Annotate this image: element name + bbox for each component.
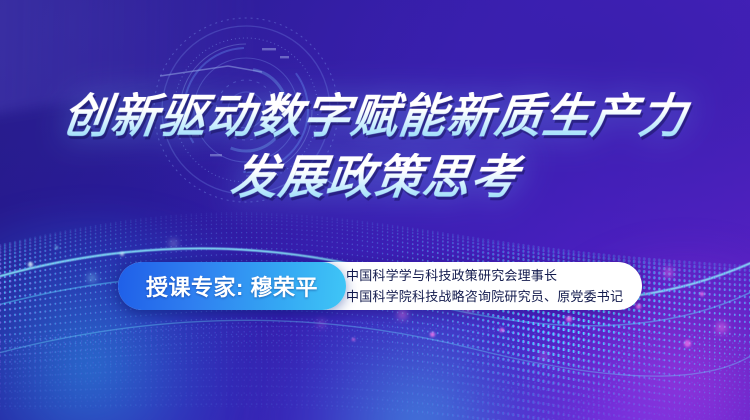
banner-title: 创新驱动数字赋能新质生产力 发展政策思考 [0, 92, 750, 202]
title-line-2: 发展政策思考 [0, 153, 750, 201]
title-line-1: 创新驱动数字赋能新质生产力 [0, 92, 750, 140]
credentials-text: 中国科学学与科技政策研究会理事长 中国科学院科技战略咨询院研究员、原党委书记 [346, 264, 642, 308]
speaker-name-label: 授课专家: 穆荣平 [146, 270, 318, 302]
violet-glow-decoration [430, 340, 750, 420]
cyan-glow-decoration [0, 215, 320, 420]
credential-line-1: 中国科学学与科技政策研究会理事长 [346, 265, 642, 286]
cyan-glow-decoration-2 [210, 300, 630, 420]
credential-line-2: 中国科学院科技战略咨询院研究员、原党委书记 [346, 286, 642, 307]
course-banner: 创新驱动数字赋能新质生产力 发展政策思考 中国科学学与科技政策研究会理事长 中国… [0, 0, 750, 420]
bokeh-particles-decoration [0, 0, 750, 420]
speaker-name-badge: 授课专家: 穆荣平 [118, 262, 346, 310]
